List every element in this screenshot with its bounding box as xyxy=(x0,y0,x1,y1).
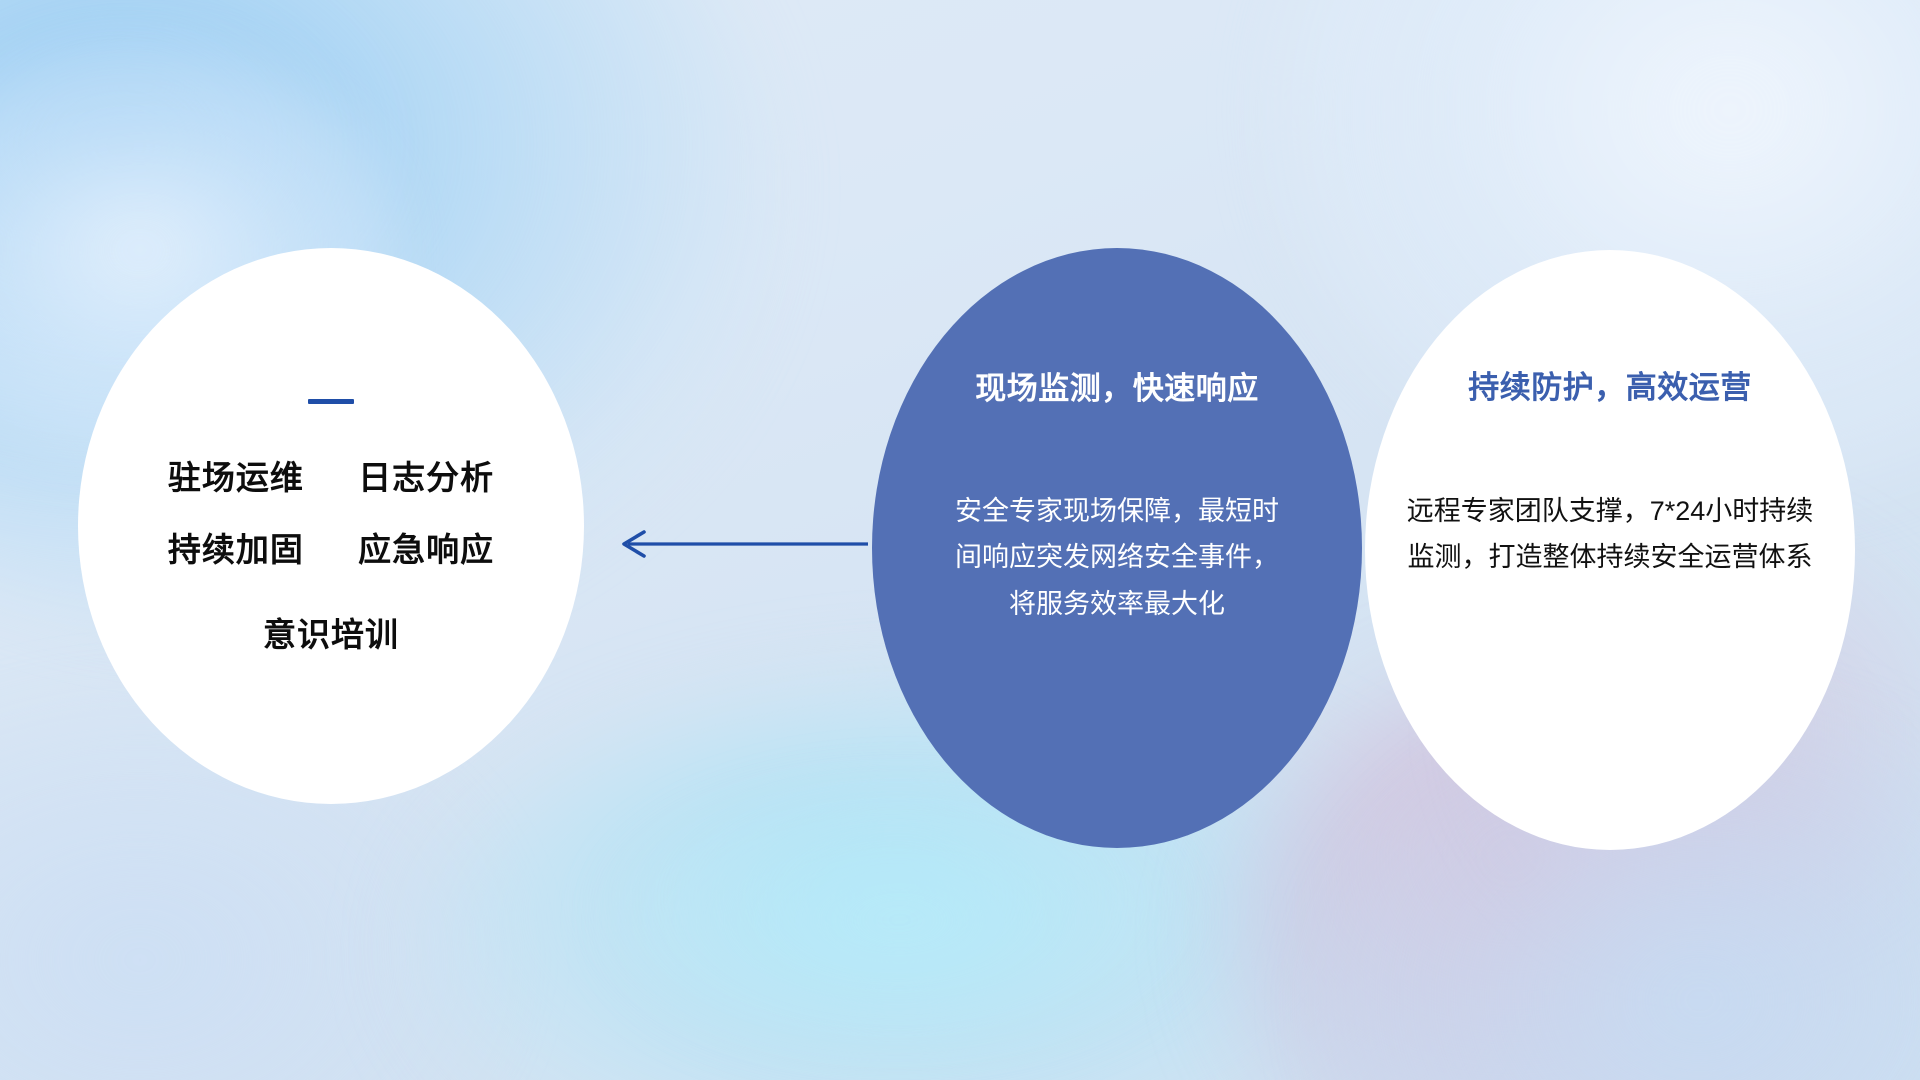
onsite-monitoring-title: 现场监测，快速响应 xyxy=(975,363,1259,408)
capability-row-2: 持续加固 应急响应 xyxy=(168,532,494,568)
capability-item-chixujiagu: 持续加固 xyxy=(168,531,304,568)
onsite-monitoring-body: 安全专家现场保障，最短时间响应突发网络安全事件，将服务效率最大化 xyxy=(947,488,1287,627)
capability-item-yingjixiangying: 应急响应 xyxy=(358,531,494,568)
slide-canvas: 驻场运维 日志分析 持续加固 应急响应 意识培训 现场监测，快速响应 安全专家现… xyxy=(0,0,1920,1080)
onsite-monitoring-circle: 现场监测，快速响应 安全专家现场保障，最短时间响应突发网络安全事件，将服务效率最… xyxy=(872,248,1362,848)
accent-dash-icon xyxy=(308,399,354,404)
capability-row-1: 驻场运维 日志分析 xyxy=(168,460,494,496)
continuous-protection-body: 远程专家团队支撑，7*24小时持续监测，打造整体持续安全运营体系 xyxy=(1400,489,1820,581)
continuous-protection-title: 持续防护，高效运营 xyxy=(1468,362,1752,407)
capability-item-yishipeixun: 意识培训 xyxy=(263,616,399,653)
capability-row-3: 意识培训 xyxy=(263,617,399,653)
continuous-protection-circle: 持续防护，高效运营 远程专家团队支撑，7*24小时持续监测，打造整体持续安全运营… xyxy=(1365,250,1855,850)
capability-item-zhuchangyunwei: 驻场运维 xyxy=(168,459,304,496)
capability-circle: 驻场运维 日志分析 持续加固 应急响应 意识培训 xyxy=(78,248,584,804)
leftward-flow-arrow xyxy=(610,520,870,568)
capability-item-rizhifenxi: 日志分析 xyxy=(358,459,494,496)
